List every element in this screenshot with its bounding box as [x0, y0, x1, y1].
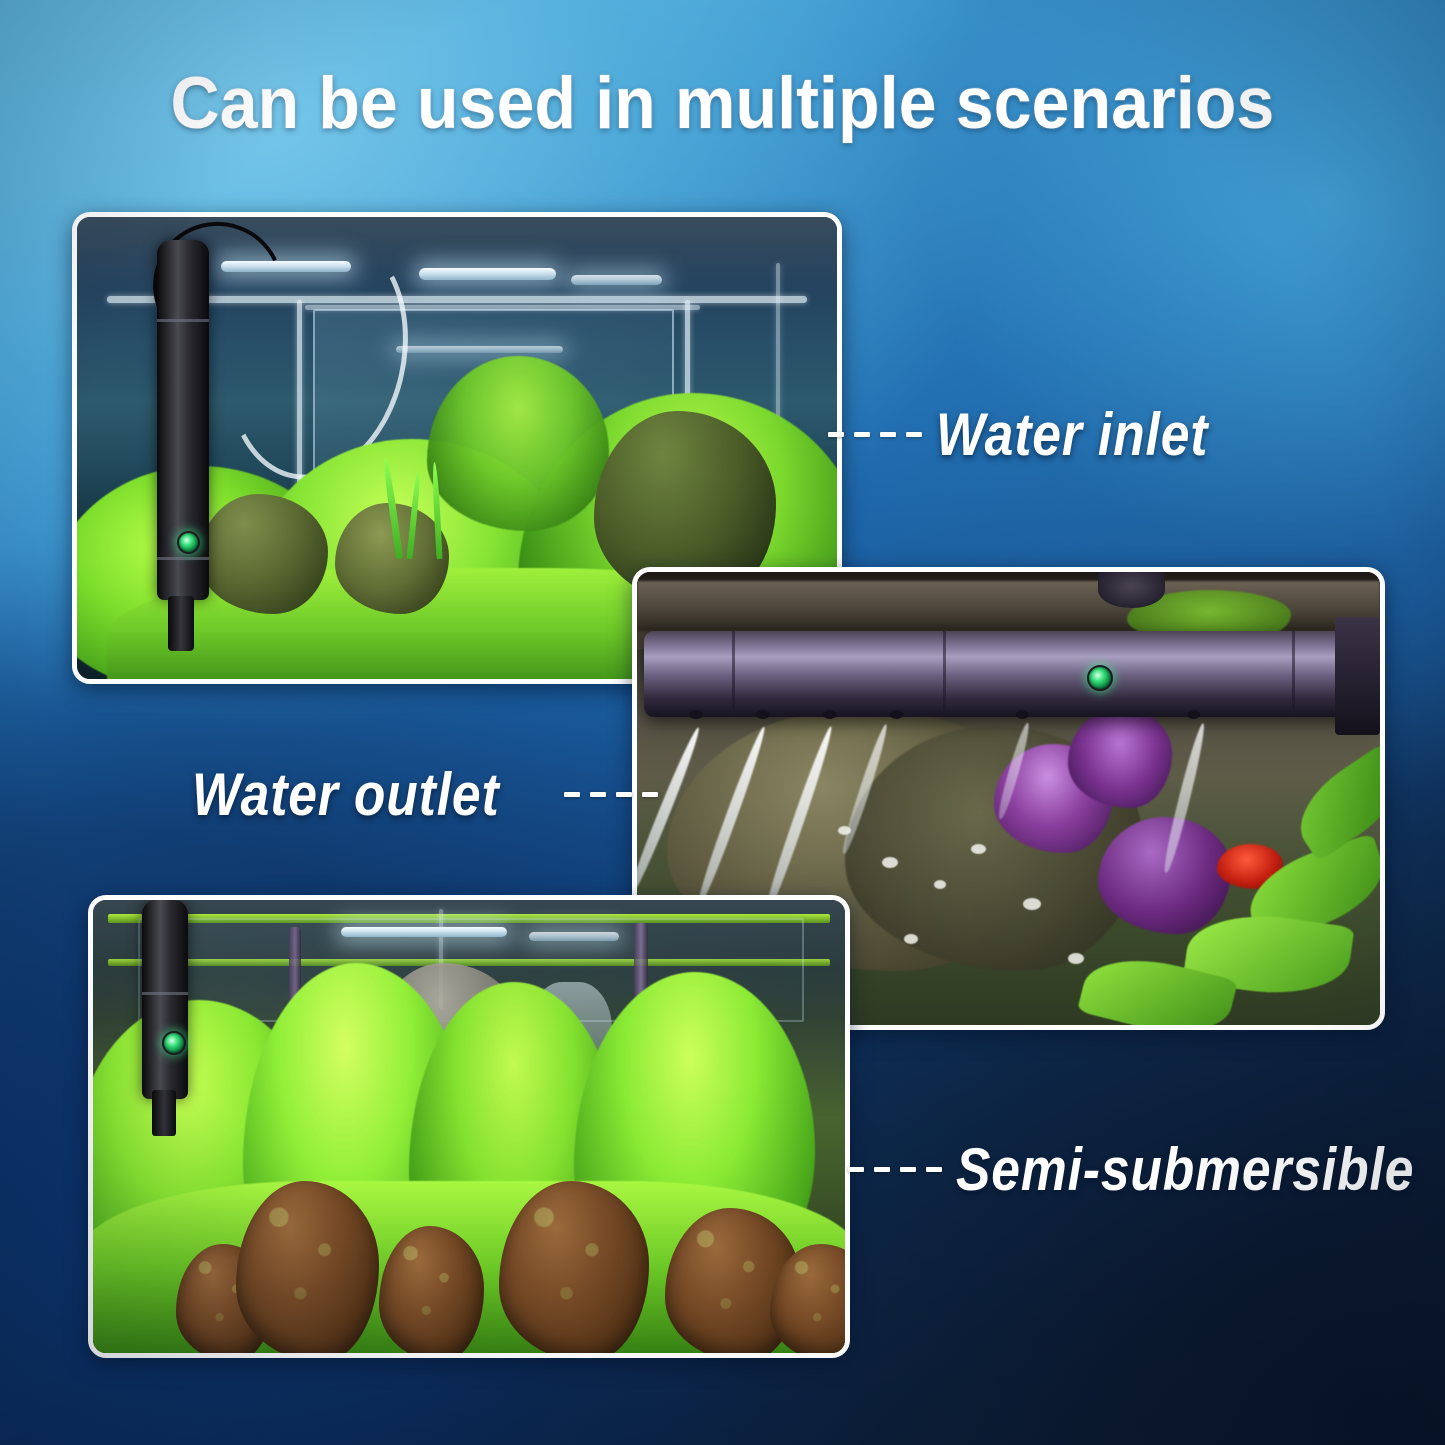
- label-semi-submersible: Semi-submersible: [848, 1135, 1445, 1204]
- purple-coral-2: [1068, 708, 1172, 808]
- device-seam-2: [943, 631, 946, 717]
- device-ring-top: [157, 319, 209, 322]
- shell-speck-7: [1068, 953, 1084, 964]
- mossy-rock-left: [199, 494, 328, 614]
- photo-semi-submersible-tank: [88, 895, 850, 1358]
- label-water-inlet-text: Water inlet: [936, 400, 1208, 469]
- label-semi-submersible-text: Semi-submersible: [956, 1135, 1414, 1204]
- leader-dashes-outlet: [564, 792, 658, 797]
- aquarium-light-bar-2: [419, 268, 556, 280]
- device-ring-top: [142, 992, 188, 995]
- purple-coral-3: [1098, 817, 1232, 935]
- filter-intake-nozzle: [152, 1090, 176, 1135]
- filter-device-semi-submerged: [142, 900, 188, 1099]
- filter-intake-nozzle: [168, 596, 194, 651]
- infographic-canvas: Can be used in multiple scenarios: [0, 0, 1445, 1445]
- outlet-hole-3: [823, 710, 837, 719]
- leader-dashes-semi: [848, 1167, 942, 1172]
- aquarium-light-bar-1: [341, 927, 506, 937]
- outlet-hole-6: [1187, 710, 1200, 719]
- shell-speck-4: [971, 844, 986, 854]
- device-ring-low: [157, 557, 209, 560]
- photo3-inner: [93, 900, 845, 1353]
- aquarium-light-bar-4: [396, 346, 563, 353]
- device-seam-3: [1292, 631, 1295, 717]
- label-water-outlet: Water outlet: [192, 760, 658, 829]
- aquarium-light-bar-2: [529, 932, 619, 941]
- indicator-led: [1087, 665, 1113, 691]
- aquarium-light-bar-3: [571, 275, 662, 285]
- device-end-cap: [1335, 617, 1380, 735]
- outlet-hole-4: [890, 710, 903, 719]
- device-mount-knob: [1098, 572, 1165, 608]
- page-title: Can be used in multiple scenarios: [51, 62, 1395, 145]
- filter-device-horizontal: [644, 631, 1372, 717]
- label-water-inlet: Water inlet: [828, 400, 1253, 469]
- device-seam-1: [732, 631, 735, 717]
- label-water-outlet-text: Water outlet: [192, 760, 500, 829]
- leader-dashes-inlet: [828, 432, 922, 437]
